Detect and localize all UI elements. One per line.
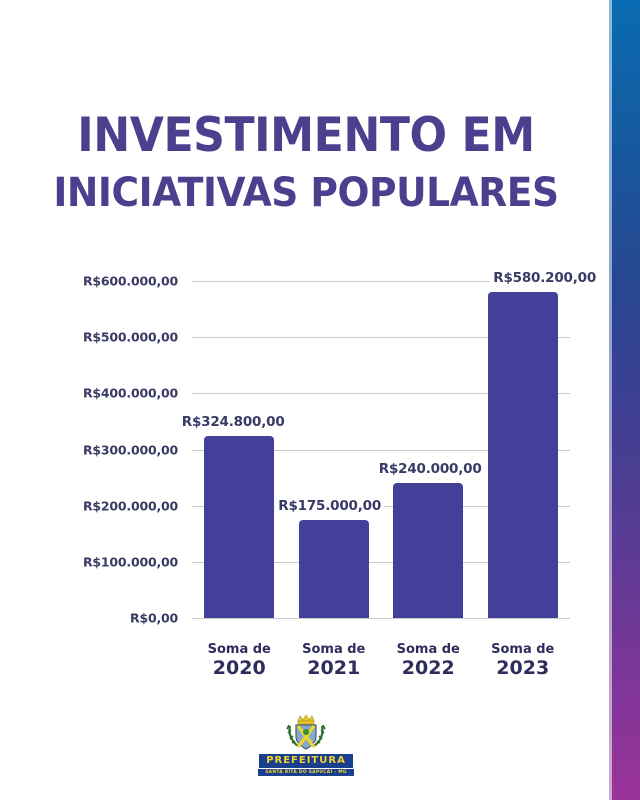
- coat-of-arms-icon: [283, 712, 329, 752]
- plot-area: R$324.800,00Soma de2020R$175.000,00Soma …: [192, 281, 570, 618]
- y-axis-tick-label: R$200.000,00: [83, 498, 178, 513]
- bar-value-label: R$324.800,00: [179, 414, 288, 430]
- bar[interactable]: [488, 292, 558, 618]
- title-line-1: INVESTIMENTO EM: [18, 112, 593, 159]
- x-axis-category-label: Soma de2023: [476, 643, 571, 680]
- category-prefix: Soma de: [287, 643, 382, 658]
- logo-wordmark: PREFEITURA: [259, 754, 353, 768]
- category-prefix: Soma de: [192, 643, 287, 658]
- y-axis-tick-label: R$300.000,00: [83, 442, 178, 457]
- category-prefix: Soma de: [476, 643, 571, 658]
- y-axis-tick-label: R$100.000,00: [83, 554, 178, 569]
- title-line-2: INICIATIVAS POPULARES: [18, 173, 593, 213]
- bar-chart: R$0,00R$100.000,00R$200.000,00R$300.000,…: [0, 262, 612, 662]
- y-axis-tick-label: R$600.000,00: [83, 274, 178, 289]
- prefeitura-logo: PREFEITURA SANTA RITA DO SAPUCAÍ - MG: [0, 712, 612, 776]
- y-axis-labels: R$0,00R$100.000,00R$200.000,00R$300.000,…: [0, 281, 178, 618]
- bar-value-label: R$175.000,00: [275, 498, 384, 514]
- investment-poster: INVESTIMENTO EM INICIATIVAS POPULARES R$…: [0, 0, 640, 800]
- bar[interactable]: [204, 436, 274, 618]
- category-year: 2021: [287, 658, 382, 680]
- y-axis-tick-label: R$500.000,00: [83, 330, 178, 345]
- category-year: 2023: [476, 658, 571, 680]
- category-year: 2020: [192, 658, 287, 680]
- category-prefix: Soma de: [381, 643, 476, 658]
- category-year: 2022: [381, 658, 476, 680]
- logo-subtitle: SANTA RITA DO SAPUCAÍ - MG: [258, 769, 354, 776]
- accent-gradient-bar: [612, 0, 640, 800]
- bar-value-label: R$580.200,00: [490, 270, 599, 286]
- x-axis-category-label: Soma de2021: [287, 643, 382, 680]
- bar-value-label: R$240.000,00: [376, 461, 485, 477]
- x-axis-category-label: Soma de2022: [381, 643, 476, 680]
- page-title: INVESTIMENTO EM INICIATIVAS POPULARES: [0, 112, 612, 213]
- x-axis-category-label: Soma de2020: [192, 643, 287, 680]
- bar[interactable]: [393, 483, 463, 618]
- y-axis-tick-label: R$0,00: [130, 611, 178, 626]
- gridline: [192, 618, 570, 619]
- y-axis-tick-label: R$400.000,00: [83, 386, 178, 401]
- bar[interactable]: [299, 520, 369, 618]
